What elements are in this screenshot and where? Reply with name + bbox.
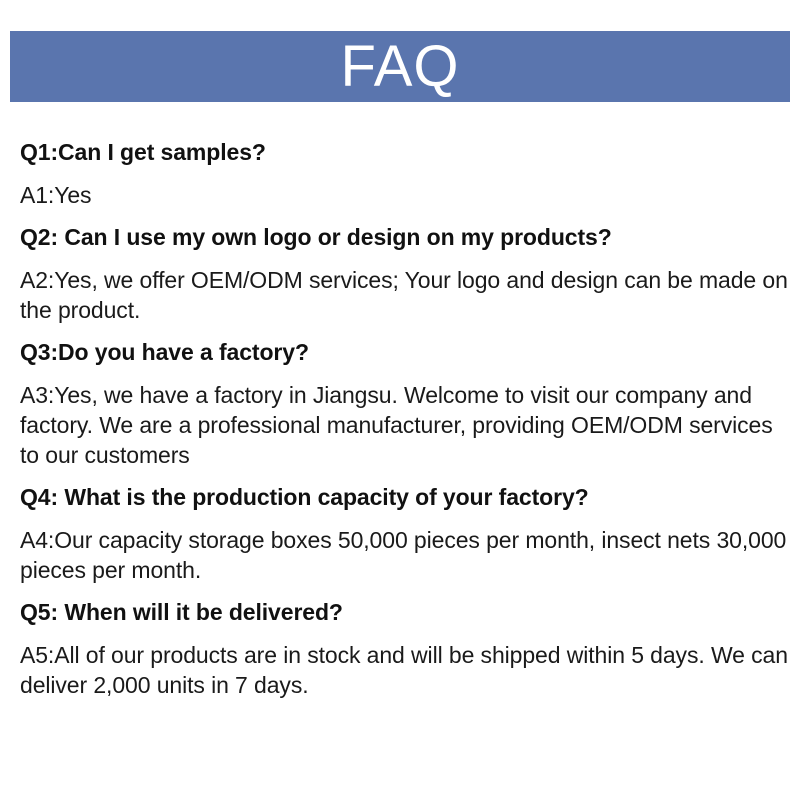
faq-answer-4: A4:Our capacity storage boxes 50,000 pie… [20, 512, 788, 585]
faq-answer-5: A5:All of our products are in stock and … [20, 627, 788, 700]
faq-question-2: Q2: Can I use my own logo or design on m… [20, 210, 788, 252]
faq-page: FAQ Q1:Can I get samples? A1:Yes Q2: Can… [0, 0, 800, 800]
faq-question-5: Q5: When will it be delivered? [20, 585, 788, 627]
faq-item-1: Q1:Can I get samples? A1:Yes [20, 137, 788, 210]
faq-answer-1: A1:Yes [20, 167, 788, 210]
faq-answer-2: A2:Yes, we offer OEM/ODM services; Your … [20, 252, 788, 325]
faq-item-3: Q3:Do you have a factory? A3:Yes, we hav… [20, 325, 788, 470]
page-title: FAQ [340, 38, 459, 96]
faq-question-4: Q4: What is the production capacity of y… [20, 470, 788, 512]
faq-question-1: Q1:Can I get samples? [20, 137, 788, 167]
faq-answer-3: A3:Yes, we have a factory in Jiangsu. We… [20, 367, 788, 470]
faq-question-3: Q3:Do you have a factory? [20, 325, 788, 367]
faq-item-5: Q5: When will it be delivered? A5:All of… [20, 585, 788, 700]
faq-item-2: Q2: Can I use my own logo or design on m… [20, 210, 788, 325]
faq-banner: FAQ [10, 31, 790, 102]
faq-list: Q1:Can I get samples? A1:Yes Q2: Can I u… [20, 137, 788, 700]
faq-item-4: Q4: What is the production capacity of y… [20, 470, 788, 585]
